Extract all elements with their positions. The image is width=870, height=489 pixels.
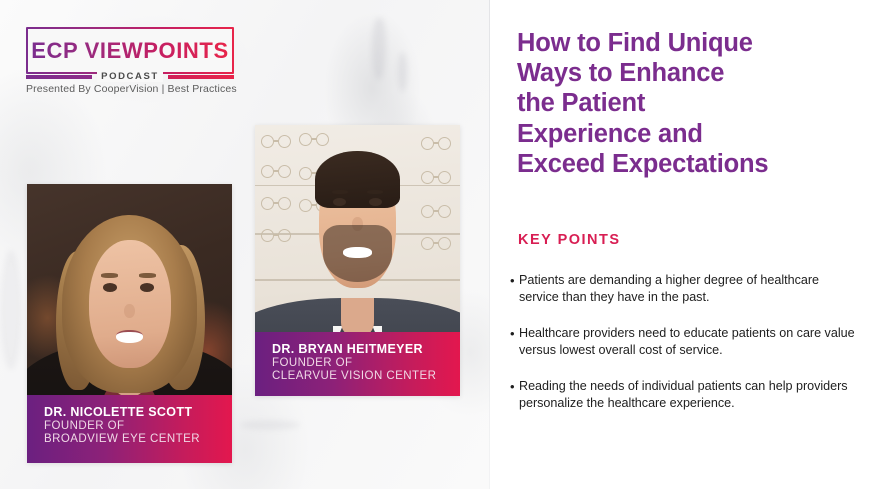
logo-rule-left	[26, 75, 92, 79]
logo-podcast-row: PODCAST	[26, 71, 234, 82]
speaker-role-line1: FOUNDER OF	[272, 357, 460, 370]
eyeglasses-icon	[261, 229, 291, 242]
eyebrow-right	[139, 273, 156, 277]
left-panel: ECP VIEWPOINTS PODCAST Presented By Coop…	[0, 0, 490, 489]
logo-wordmark: ECP VIEWPOINTS	[31, 38, 228, 64]
list-item-text: Reading the needs of individual patients…	[519, 378, 855, 412]
logo-rule-right	[168, 75, 234, 79]
texture-streak	[240, 420, 300, 430]
eyeglasses-icon	[261, 197, 291, 210]
list-item: • Healthcare providers need to educate p…	[510, 325, 855, 359]
neck	[341, 298, 374, 336]
bullet-icon: •	[510, 325, 519, 359]
key-points-list: • Patients are demanding a higher degree…	[510, 272, 855, 431]
presented-by-text: Presented By CooperVision | Best Practic…	[26, 83, 237, 95]
eyeglasses-icon	[421, 171, 451, 184]
speaker-name: DR. NICOLETTE SCOTT	[44, 404, 232, 420]
bullet-icon: •	[510, 272, 519, 306]
speaker-name: DR. BRYAN HEITMEYER	[272, 341, 460, 357]
eyeglasses-icon	[299, 133, 329, 146]
eyeglasses-icon	[421, 237, 451, 250]
title-line: Experience and	[517, 119, 857, 149]
speaker-role-line2: BROADVIEW EYE CENTER	[44, 433, 232, 446]
speaker-role-line1: FOUNDER OF	[44, 420, 232, 433]
speaker-card-scott[interactable]: DR. NICOLETTE SCOTT FOUNDER OF BROADVIEW…	[27, 184, 232, 463]
title-line: Ways to Enhance	[517, 58, 857, 88]
key-points-heading: KEY POINTS	[518, 232, 621, 248]
list-item: • Patients are demanding a higher degree…	[510, 272, 855, 306]
eyebrow-right	[367, 190, 383, 194]
eyebrow-left	[332, 190, 348, 194]
brand-logo[interactable]: ECP VIEWPOINTS PODCAST	[26, 27, 234, 74]
texture-streak	[0, 250, 22, 370]
eyeglasses-icon	[261, 165, 291, 178]
mouth	[343, 247, 372, 258]
list-item: • Reading the needs of individual patien…	[510, 378, 855, 412]
bullet-icon: •	[510, 378, 519, 412]
speaker-nameplate-heitmeyer: DR. BRYAN HEITMEYER FOUNDER OF CLEARVUE …	[255, 332, 460, 396]
eye-right	[140, 283, 154, 292]
eyeglasses-icon	[421, 205, 451, 218]
speaker-card-heitmeyer[interactable]: DR. BRYAN HEITMEYER FOUNDER OF CLEARVUE …	[255, 125, 460, 396]
eyeglasses-icon	[421, 137, 451, 150]
title-line: Exceed Expectations	[517, 149, 857, 179]
hair	[315, 151, 399, 208]
eye-left	[103, 283, 117, 292]
logo-frame-inner: ECP VIEWPOINTS	[28, 29, 232, 72]
texture-streak	[398, 52, 407, 92]
eyeglasses-icon	[261, 135, 291, 148]
eyebrow-left	[101, 273, 118, 277]
speaker-role-line2: CLEARVUE VISION CENTER	[272, 370, 460, 383]
title-line: the Patient	[517, 88, 857, 118]
list-item-text: Patients are demanding a higher degree o…	[519, 272, 855, 306]
podcast-episode-slide: ECP VIEWPOINTS PODCAST Presented By Coop…	[0, 0, 870, 489]
speaker-nameplate-scott: DR. NICOLETTE SCOTT FOUNDER OF BROADVIEW…	[27, 395, 232, 463]
episode-title: How to Find Unique Ways to Enhance the P…	[517, 28, 857, 179]
list-item-text: Healthcare providers need to educate pat…	[519, 325, 855, 359]
mouth	[116, 330, 143, 343]
nose	[124, 304, 134, 318]
logo-frame: ECP VIEWPOINTS	[26, 27, 234, 74]
title-line: How to Find Unique	[517, 28, 857, 58]
logo-podcast-label: PODCAST	[97, 71, 163, 82]
